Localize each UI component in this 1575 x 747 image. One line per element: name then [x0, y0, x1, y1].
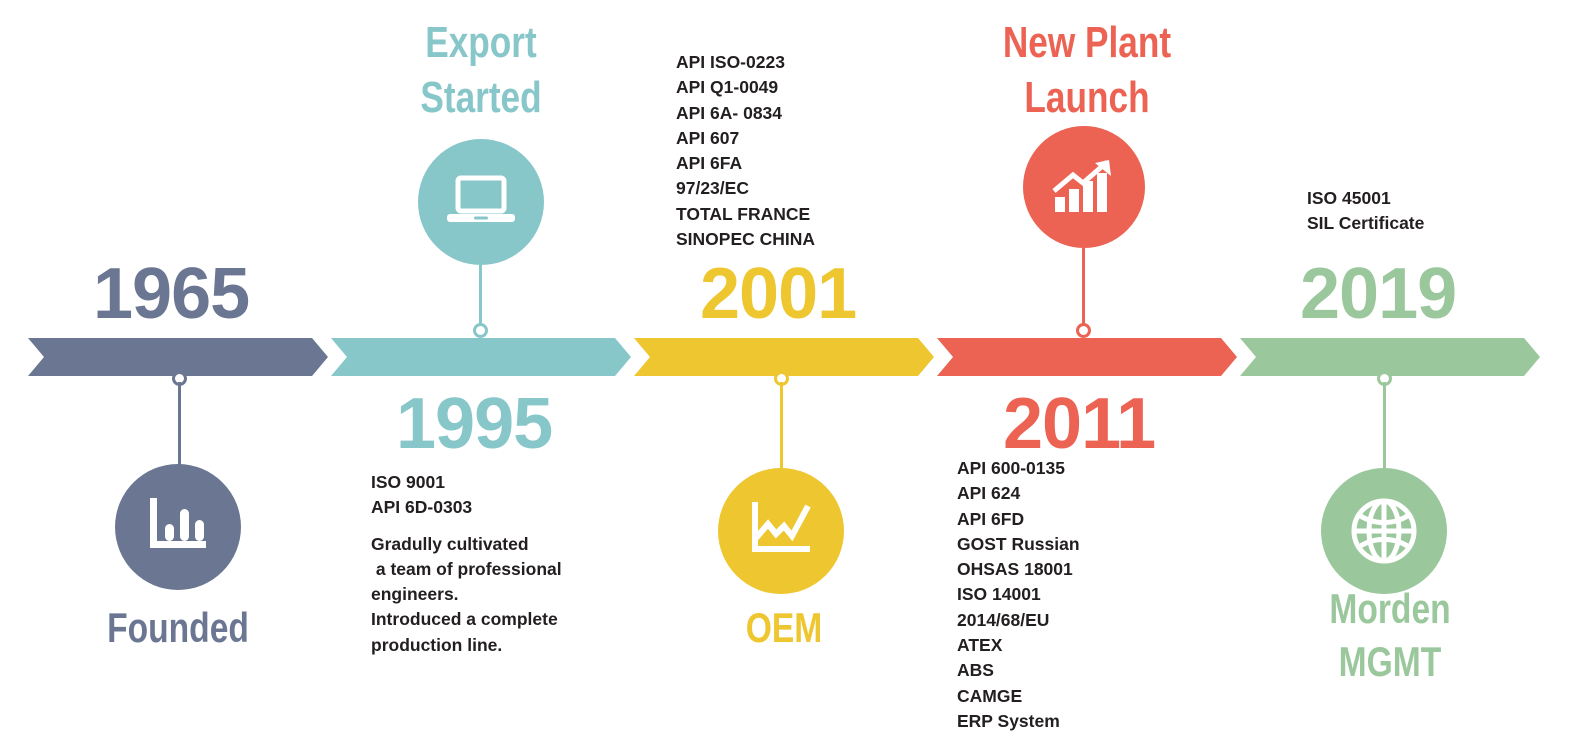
- cert-line: SIL Certificate: [1307, 213, 1424, 233]
- connector-ring-2011: [1076, 323, 1091, 338]
- cert-line: engineers.: [371, 584, 459, 604]
- year-label-2019: 2019: [1300, 258, 1456, 330]
- medallion-founded[interactable]: [115, 464, 241, 590]
- medallion-morden-mgmt[interactable]: [1321, 468, 1447, 594]
- caption-morden-line2: MGMT: [1270, 638, 1510, 686]
- connector-stem-2001: [780, 382, 783, 471]
- caption-oem: OEM: [664, 604, 904, 652]
- headline-plant-line1: New Plant: [967, 18, 1207, 68]
- cert-line: OHSAS 18001: [957, 559, 1073, 579]
- cert-line: ABS: [957, 660, 994, 680]
- band-segment-2019: [1240, 338, 1540, 376]
- certs-list-2011: API 600-0135API 624API 6FDGOST RussianOH…: [957, 456, 1080, 734]
- cert-line: Introduced a complete: [371, 609, 558, 629]
- certs-list-2019: ISO 45001SIL Certificate: [1307, 186, 1424, 237]
- cert-line: Gradully cultivated: [371, 534, 529, 554]
- connector-stem-1995: [479, 265, 482, 327]
- medallion-export-started[interactable]: [418, 139, 544, 265]
- medallion-new-plant[interactable]: [1023, 126, 1145, 248]
- cert-line: API 6FA: [676, 153, 742, 173]
- certs-list-2001: API ISO-0223API Q1-0049API 6A- 0834API 6…: [676, 50, 815, 252]
- cert-line: API 600-0135: [957, 458, 1065, 478]
- cert-line: ATEX: [957, 635, 1002, 655]
- cert-line: CAMGE: [957, 686, 1022, 706]
- cert-line: API ISO-0223: [676, 52, 785, 72]
- headline-export-line1: Export: [361, 18, 601, 68]
- certs-list-1995: ISO 9001API 6D-0303Gradully cultivated a…: [371, 470, 562, 658]
- headline-export-line2: Started: [361, 73, 601, 123]
- medallion-oem[interactable]: [718, 468, 844, 594]
- band-segment-2011: [937, 338, 1237, 376]
- cert-line: API 624: [957, 483, 1020, 503]
- cert-line: API 6A- 0834: [676, 103, 782, 123]
- connector-stem-1965: [178, 382, 181, 467]
- year-label-2011: 2011: [1003, 388, 1155, 460]
- cert-line: ERP System: [957, 711, 1060, 731]
- cert-line: API 607: [676, 128, 739, 148]
- cert-line: 97/23/EC: [676, 178, 749, 198]
- cert-line: TOTAL FRANCE: [676, 204, 810, 224]
- cert-line: GOST Russian: [957, 534, 1080, 554]
- band-segment-2001: [634, 338, 934, 376]
- caption-morden-line1: Morden: [1270, 585, 1510, 633]
- cert-line: API Q1-0049: [676, 77, 778, 97]
- laptop-icon: [445, 174, 517, 230]
- cert-line: SINOPEC CHINA: [676, 229, 815, 249]
- growth-chart-icon: [1051, 158, 1117, 216]
- year-label-2001: 2001: [700, 258, 856, 330]
- cert-line: ISO 9001: [371, 472, 445, 492]
- cert-line: production line.: [371, 635, 502, 655]
- cert-line: API 6FD: [957, 509, 1024, 529]
- caption-founded: Founded: [58, 604, 298, 652]
- cert-line: ISO 14001: [957, 584, 1041, 604]
- cert-line: API 6D-0303: [371, 497, 472, 517]
- connector-stem-2019: [1383, 382, 1386, 471]
- cert-line: 2014/68/EU: [957, 610, 1049, 630]
- headline-plant-line2: Launch: [967, 73, 1207, 123]
- connector-ring-1995: [473, 323, 488, 338]
- band-segment-1995: [331, 338, 631, 376]
- cert-line: a team of professional: [371, 559, 562, 579]
- year-label-1995: 1995: [396, 388, 552, 460]
- bar-chart-icon: [144, 496, 212, 558]
- timeline-infographic: 1965 Founded Export Started 1995 ISO 900…: [0, 0, 1575, 747]
- line-chart-icon: [747, 500, 815, 562]
- cert-spacer: [371, 521, 562, 532]
- year-label-1965: 1965: [93, 258, 249, 330]
- globe-icon: [1348, 495, 1420, 567]
- connector-stem-2011: [1082, 248, 1085, 327]
- cert-line: ISO 45001: [1307, 188, 1391, 208]
